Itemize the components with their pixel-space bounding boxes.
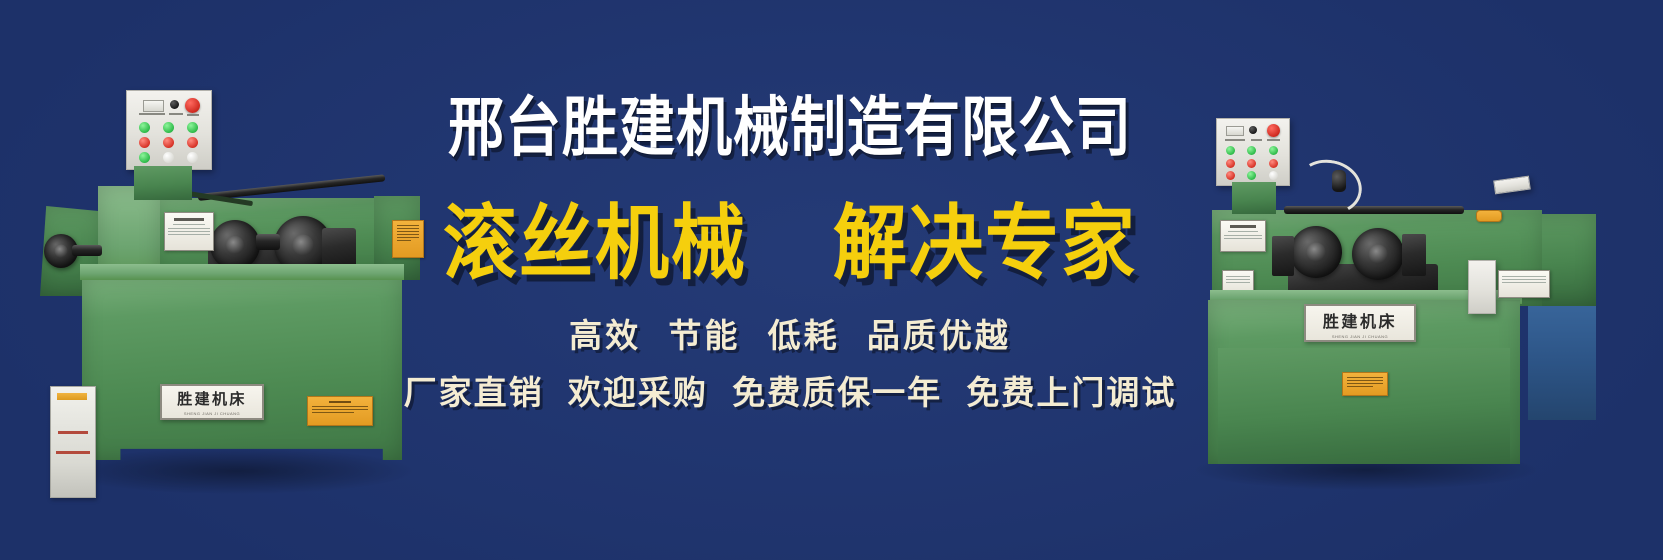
machine-indicator-strip xyxy=(1476,210,1502,222)
machine-die-support-left xyxy=(1272,236,1294,276)
panel-label-text xyxy=(1267,139,1280,141)
tagline-1-item-3: 品质优越 xyxy=(867,319,1011,355)
machine-die-shaft xyxy=(256,234,280,250)
brand-nameplate-left: 胜建机床 SHENG JIAN JI CHUANG xyxy=(160,384,264,420)
tagline-1-item-1: 节能 xyxy=(668,319,740,355)
machine-left-shaft xyxy=(72,245,102,256)
company-name-heading: 邢台胜建机械制造有限公司 xyxy=(448,95,1132,160)
panel-button-red[interactable] xyxy=(187,137,198,148)
control-panel-stand xyxy=(1232,182,1276,214)
machine-die-support xyxy=(322,228,356,268)
brand-nameplate-right: 胜建机床 SHENG JIAN JI CHUANG xyxy=(1304,304,1416,342)
cabinet-text-line xyxy=(56,451,90,454)
promotional-banner: 胜建机床 SHENG JIAN JI CHUANG xyxy=(0,0,1663,560)
panel-button-red[interactable] xyxy=(163,137,174,148)
machine-die-support-right xyxy=(1402,234,1426,276)
panel-button-green[interactable] xyxy=(1226,146,1235,155)
rolling-machine-right-image: 胜建机床 SHENG JIAN JI CHUANG xyxy=(1176,118,1596,468)
control-panel-stand xyxy=(134,166,192,200)
emergency-stop-button[interactable] xyxy=(1267,124,1280,137)
main-slogan: 滚丝机械 解决专家 xyxy=(443,203,1137,284)
machine-hydraulic-head xyxy=(1332,170,1346,192)
rolling-machine-left-image: 胜建机床 SHENG JIAN JI CHUANG xyxy=(22,88,422,480)
control-panel-right xyxy=(1216,118,1290,186)
machine-spec-plate xyxy=(164,212,214,251)
panel-button-red[interactable] xyxy=(1226,171,1235,180)
panel-button-green[interactable] xyxy=(163,122,174,133)
slogan-left-text: 滚丝机械 xyxy=(443,203,747,284)
panel-selector-knob[interactable] xyxy=(1249,126,1257,134)
panel-button-red[interactable] xyxy=(1247,159,1256,168)
tagline-1-item-2: 低耗 xyxy=(768,319,840,355)
tagline-line-2: 厂家直销 欢迎采购 免费质保一年 免费上门调试 xyxy=(404,378,1177,411)
panel-selector-knob[interactable] xyxy=(170,100,179,109)
tagline-line-1: 高效 节能 低耗 品质优越 xyxy=(569,321,1011,354)
machine-base-skirt xyxy=(1218,348,1510,464)
panel-button-green[interactable] xyxy=(139,122,150,133)
tagline-2-item-3: 免费上门调试 xyxy=(966,376,1176,412)
brand-nameplate-pinyin: SHENG JIAN JI CHUANG xyxy=(184,411,240,416)
panel-label-text xyxy=(169,113,183,115)
cabinet-text-line xyxy=(58,431,88,434)
panel-button-green[interactable] xyxy=(1247,171,1256,180)
panel-label-text xyxy=(187,114,199,116)
panel-button-red[interactable] xyxy=(1226,159,1235,168)
brand-nameplate-cn: 胜建机床 xyxy=(177,388,247,409)
panel-display-meter xyxy=(1226,126,1244,136)
machine-roller-die-1 xyxy=(1290,226,1342,278)
panel-button-green[interactable] xyxy=(187,122,198,133)
tagline-2-item-0: 厂家直销 xyxy=(404,376,544,412)
panel-button-red[interactable] xyxy=(139,137,150,148)
brand-nameplate-pinyin: SHENG JIAN JI CHUANG xyxy=(1332,334,1388,339)
panel-button-green[interactable] xyxy=(1269,146,1278,155)
machine-coolant-cabinet xyxy=(50,386,96,498)
warning-label-left xyxy=(307,396,373,426)
machine-base xyxy=(82,274,402,460)
slogan-right-text: 解决专家 xyxy=(833,203,1137,284)
machine-mid-shelf xyxy=(80,264,404,280)
panel-label-text xyxy=(1225,139,1245,141)
tagline-2-item-1: 欢迎采购 xyxy=(568,376,708,412)
machine-tool-holder xyxy=(1468,260,1496,314)
panel-button-white[interactable] xyxy=(1269,171,1278,180)
machine-side-plate xyxy=(1498,270,1550,298)
panel-button-red[interactable] xyxy=(1269,159,1278,168)
tagline-1-item-0: 高效 xyxy=(569,319,641,355)
panel-button-white[interactable] xyxy=(163,152,174,163)
warning-label-skirt xyxy=(1342,372,1388,396)
machine-spec-plate xyxy=(1220,220,1266,252)
panel-label-text xyxy=(139,113,165,115)
control-panel-left xyxy=(126,90,212,170)
cabinet-label-strip xyxy=(57,393,87,400)
emergency-stop-button[interactable] xyxy=(185,98,200,113)
panel-label-text xyxy=(1251,139,1262,141)
machine-top-fixture xyxy=(1493,176,1531,195)
tagline-2-item-2: 免费质保一年 xyxy=(732,376,942,412)
brand-nameplate-cn: 胜建机床 xyxy=(1323,308,1397,332)
panel-button-green[interactable] xyxy=(139,152,150,163)
panel-button-white[interactable] xyxy=(187,152,198,163)
banner-text-block: 邢台胜建机械制造有限公司 滚丝机械 解决专家 高效 节能 低耗 品质优越 厂家直… xyxy=(390,0,1190,560)
machine-roller-die-2 xyxy=(1352,228,1404,280)
panel-button-green[interactable] xyxy=(1247,146,1256,155)
panel-display-meter xyxy=(143,100,164,112)
machine-roller-die-1 xyxy=(210,220,260,270)
